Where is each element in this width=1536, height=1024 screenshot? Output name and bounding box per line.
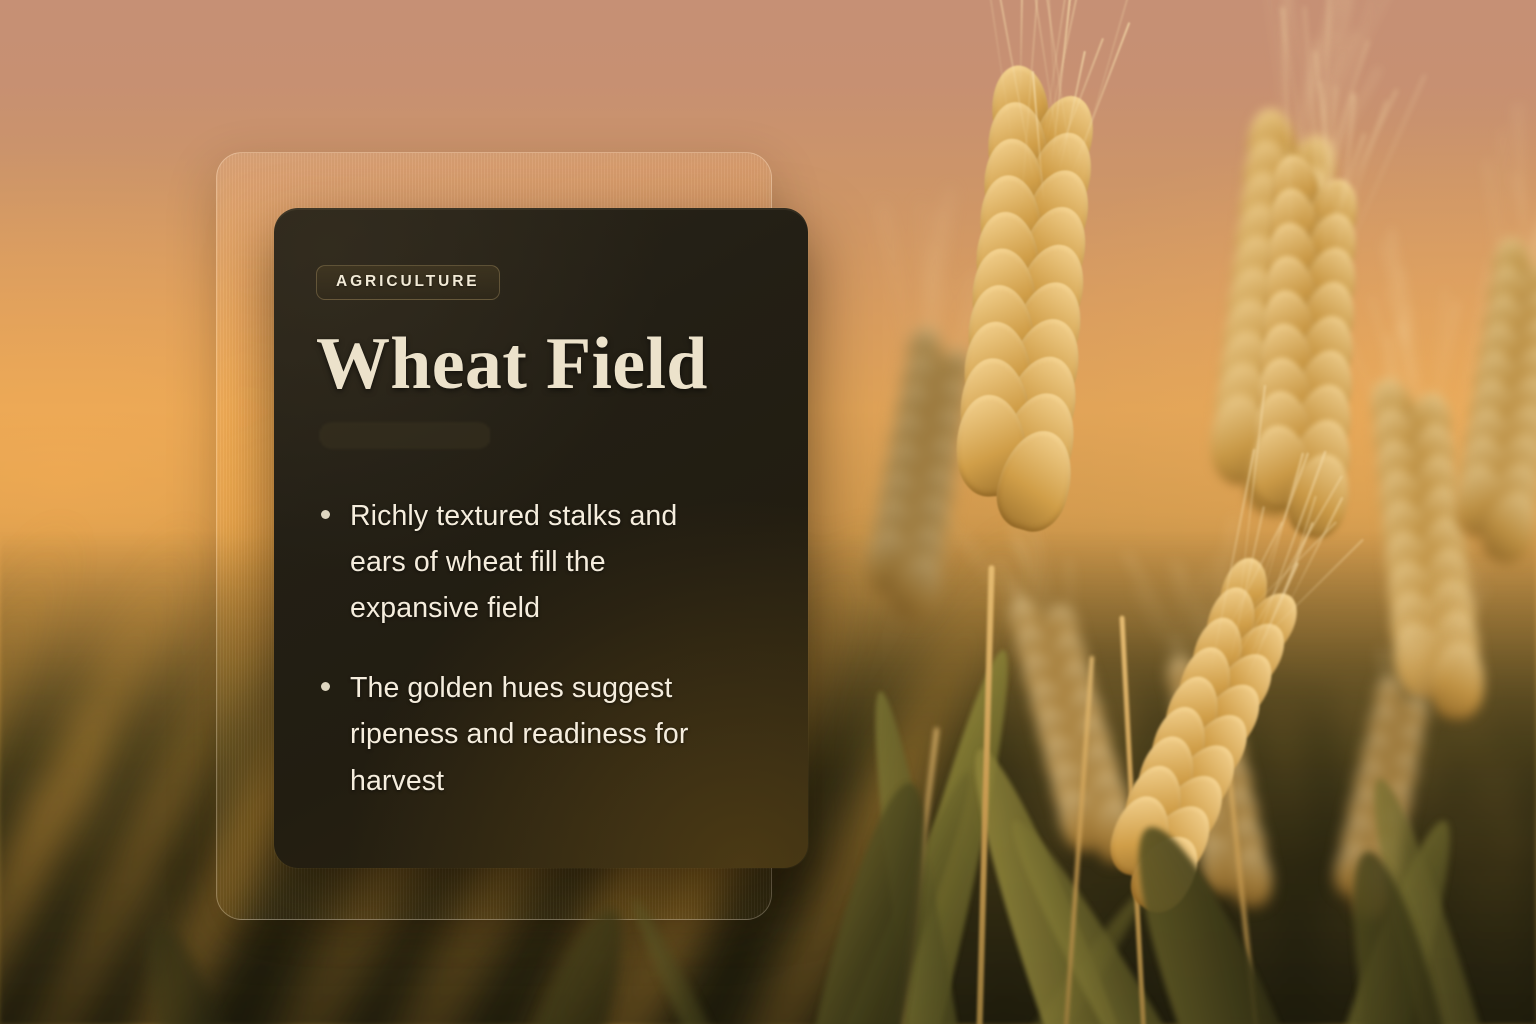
bullet-dot-icon bbox=[321, 682, 330, 691]
list-item-text: The golden hues suggest ripeness and rea… bbox=[350, 672, 688, 797]
page-title: Wheat Field bbox=[316, 327, 768, 401]
wheat-ear bbox=[1256, 154, 1372, 473]
category-badge[interactable]: AGRICULTURE bbox=[316, 265, 500, 300]
list-item: Richly textured stalks and ears of wheat… bbox=[316, 493, 736, 632]
bullet-dot-icon bbox=[321, 510, 330, 519]
wheat-ear bbox=[1119, 553, 1323, 864]
slide-canvas: AGRICULTURE Wheat Field Richly textured … bbox=[0, 0, 1536, 1024]
redacted-subtitle-bar bbox=[320, 422, 490, 449]
wheat-ear bbox=[1459, 235, 1536, 511]
wheat-leaf bbox=[127, 915, 248, 1024]
list-item-text: Richly textured stalks and ears of wheat… bbox=[350, 500, 677, 625]
wheat-ear bbox=[1008, 584, 1133, 828]
wheat-ear bbox=[961, 63, 1113, 451]
info-card: AGRICULTURE Wheat Field Richly textured … bbox=[274, 208, 808, 868]
list-item: The golden hues suggest ripeness and rea… bbox=[316, 665, 736, 804]
feature-bullet-list: Richly textured stalks and ears of wheat… bbox=[316, 493, 768, 805]
